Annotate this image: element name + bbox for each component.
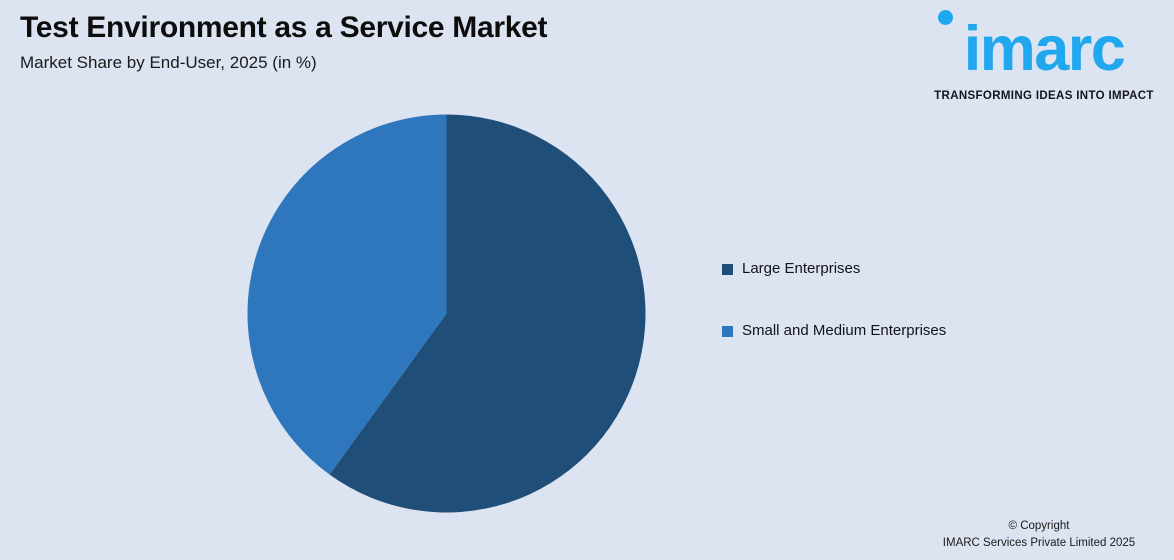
logo-wordmark: imarc bbox=[924, 18, 1164, 81]
legend-item-large-enterprises[interactable]: Large Enterprises bbox=[722, 258, 946, 280]
copyright-notice: © Copyright IMARC Services Private Limit… bbox=[914, 518, 1164, 552]
legend-swatch-icon bbox=[722, 264, 733, 275]
copyright-line-1: © Copyright bbox=[914, 518, 1164, 535]
logo-tagline: TRANSFORMING IDEAS INTO IMPACT bbox=[924, 90, 1164, 102]
pie-chart bbox=[247, 114, 646, 513]
chart-legend: Large Enterprises Small and Medium Enter… bbox=[722, 258, 946, 382]
chart-canvas: Test Environment as a Service Market Mar… bbox=[0, 0, 1174, 560]
page-title: Test Environment as a Service Market bbox=[20, 8, 780, 48]
legend-swatch-icon bbox=[722, 326, 733, 337]
chart-header: Test Environment as a Service Market Mar… bbox=[20, 8, 780, 75]
imarc-logo: imarc TRANSFORMING IDEAS INTO IMPACT bbox=[924, 8, 1164, 80]
copyright-line-2: IMARC Services Private Limited 2025 bbox=[914, 535, 1164, 552]
legend-item-small-and-medium-enterprises[interactable]: Small and Medium Enterprises bbox=[722, 320, 946, 342]
chart-subtitle: Market Share by End-User, 2025 (in %) bbox=[20, 51, 780, 75]
logo-mark: imarc TRANSFORMING IDEAS INTO IMPACT bbox=[924, 8, 1164, 80]
legend-label: Small and Medium Enterprises bbox=[742, 321, 946, 341]
pie-chart-svg bbox=[247, 114, 646, 513]
legend-label: Large Enterprises bbox=[742, 259, 860, 279]
